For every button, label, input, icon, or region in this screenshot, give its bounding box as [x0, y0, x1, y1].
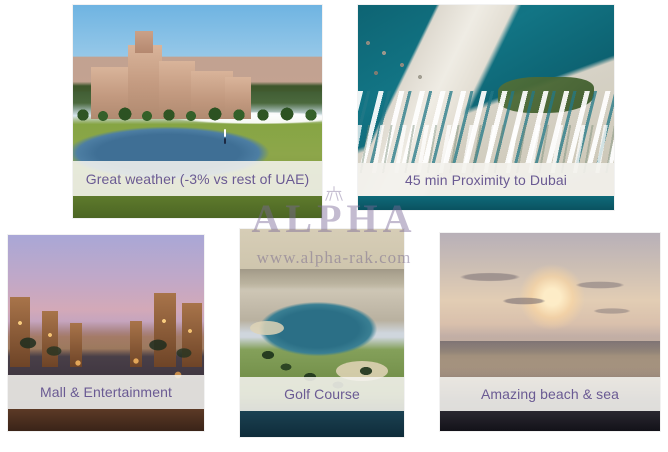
photo-bottom-strip	[440, 411, 660, 431]
collage-card-beach[interactable]: Amazing beach & sea	[440, 233, 660, 431]
caption-band: Mall & Entertainment	[8, 375, 204, 409]
photo-bottom-strip	[8, 409, 204, 431]
photo-bottom-strip	[73, 196, 322, 218]
caption-label: Mall & Entertainment	[40, 385, 172, 399]
collage-card-weather[interactable]: Great weather (-3% vs rest of UAE)	[73, 5, 322, 218]
caption-label: Amazing beach & sea	[481, 387, 619, 401]
caption-band: 45 min Proximity to Dubai	[358, 163, 614, 196]
caption-label: 45 min Proximity to Dubai	[405, 173, 567, 187]
caption-band: Amazing beach & sea	[440, 377, 660, 411]
photo-bottom-strip	[240, 411, 404, 437]
caption-label: Great weather (-3% vs rest of UAE)	[86, 172, 310, 186]
collage-card-proximity[interactable]: 45 min Proximity to Dubai	[358, 5, 614, 210]
rocky-shore-shape	[358, 33, 468, 91]
collage-card-mall[interactable]: Mall & Entertainment	[8, 235, 204, 431]
treeline-shape	[73, 105, 322, 123]
shoreline-shape	[440, 341, 660, 375]
caption-band: Golf Course	[240, 377, 404, 411]
sand-bunker-shape	[250, 321, 284, 335]
image-collage: Great weather (-3% vs rest of UAE) 45 mi…	[0, 0, 668, 452]
caption-label: Golf Course	[284, 387, 360, 401]
clouds-shape	[440, 267, 660, 331]
caption-band: Great weather (-3% vs rest of UAE)	[73, 161, 322, 196]
hotel-tower-shape	[135, 31, 153, 53]
collage-card-golf[interactable]: Golf Course	[240, 229, 404, 437]
photo-bottom-strip	[358, 196, 614, 210]
distant-hills-shape	[240, 269, 404, 289]
